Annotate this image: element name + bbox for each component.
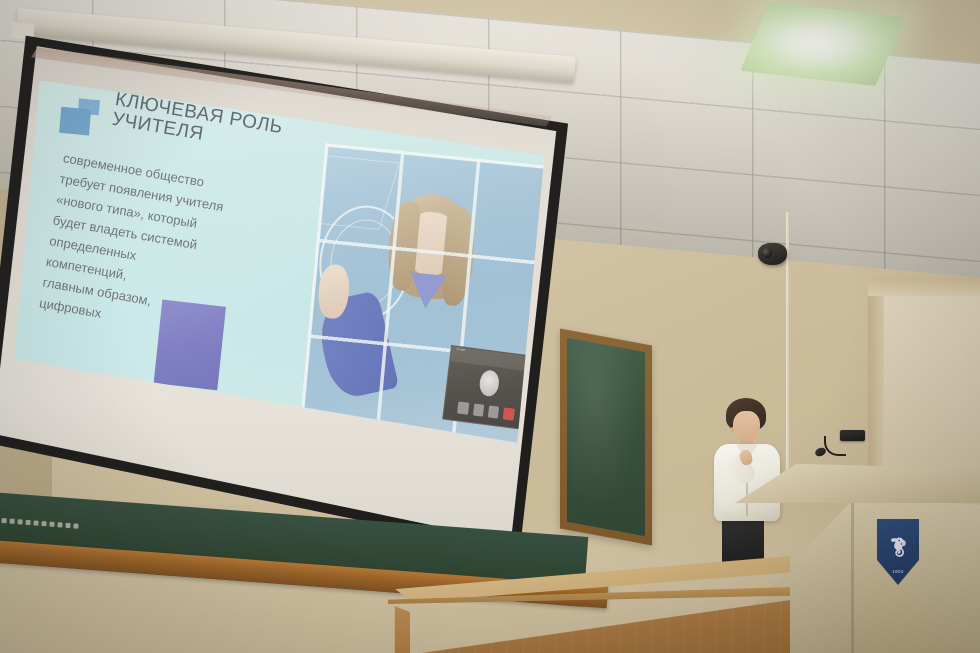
microphone-base [840,430,865,441]
emblem-year: 1804 [877,569,919,574]
slide-purple-block [153,299,226,389]
blue-square-marker-icon [59,96,103,137]
desk-side-panel [370,606,410,653]
camera-toggle-icon[interactable] [472,404,484,417]
front-desk [370,556,790,653]
chalkboard-right [560,328,652,545]
lectern-top [725,463,980,503]
presenter-face [733,411,760,442]
zilant-dragon-icon [885,526,913,570]
video-call-title: Zoom [456,348,465,353]
lecture-hall-scene: КЛЮЧЕВАЯ РОЛЬ УЧИТЕЛЯ современное общест… [0,0,980,653]
chalkboard-surface [567,338,645,536]
projection-screen: КЛЮЧЕВАЯ РОЛЬ УЧИТЕЛЯ современное общест… [0,28,572,577]
video-call-controls[interactable] [457,402,514,421]
avatar [477,370,500,399]
earring-icon [731,427,734,432]
mic-toggle-icon[interactable] [457,402,469,415]
security-camera-icon [758,243,787,265]
desk-wood-grain [396,600,790,653]
desk-cable-slot [635,562,657,568]
ceiling-panel-light [740,2,904,86]
university-emblem-icon: 1804 [877,519,919,585]
lectern-corner-edge [851,489,854,653]
door-header [868,278,980,296]
end-call-icon[interactable] [502,408,514,421]
share-screen-icon[interactable] [487,406,499,419]
